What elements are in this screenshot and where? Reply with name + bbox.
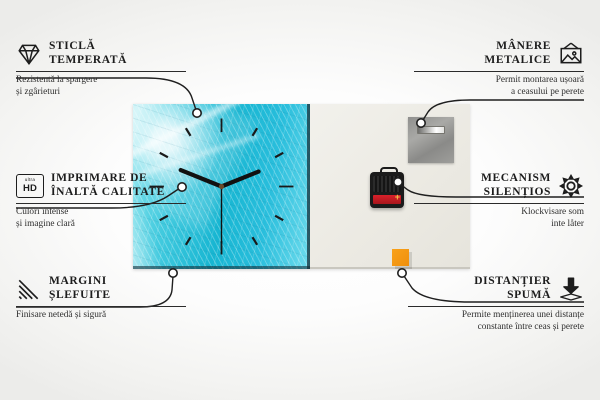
callout-header: MECANISM SILENȚIOS (414, 172, 584, 199)
callout-rule (414, 71, 584, 72)
connector-metal-handles (423, 100, 584, 120)
subtitle-line: și zgârieturi (16, 87, 186, 99)
gear-icon (558, 173, 584, 199)
subtitle-line: inte låter (414, 219, 584, 231)
callout-rule (16, 306, 186, 307)
title-line: ÎNALTĂ CALITATE (51, 186, 165, 200)
title-line: IMPRIMARE DE (51, 172, 165, 186)
callout-polished-edges[interactable]: MARGINI ȘLEFUITE Finisare netedă și sigu… (16, 275, 186, 322)
callout-header: DISTANȚIER SPUMĂ (408, 275, 584, 302)
title-line: METALICE (484, 54, 551, 68)
picture-frame-hanger-icon (558, 41, 584, 67)
callout-title: MECANISM SILENȚIOS (481, 172, 551, 199)
title-line: SILENȚIOS (481, 186, 551, 200)
ultra-hd-icon: ultra HD (16, 174, 44, 198)
callout-header: MARGINI ȘLEFUITE (16, 275, 186, 302)
diagonal-lines-icon (16, 276, 42, 302)
callout-title: DISTANȚIER SPUMĂ (474, 275, 551, 302)
callout-subtitle: Culori intense și imagine clară (16, 207, 186, 230)
callout-rule (408, 306, 584, 307)
callout-foam-spacer[interactable]: DISTANȚIER SPUMĂ Permite menținerea unei… (408, 275, 584, 333)
subtitle-line: Permite menținerea unei distanțe (408, 310, 584, 322)
callout-header: MÂNERE METALICE (414, 40, 584, 67)
title-line: MARGINI (49, 275, 111, 289)
subtitle-line: și imagine clară (16, 219, 186, 231)
ultra-hd-icon-top-text: ultra (25, 178, 35, 183)
callout-tempered-glass[interactable]: STICLĂ TEMPERATĂ Rezistentă la spargere … (16, 40, 186, 98)
callout-subtitle: Permite menținerea unei distanțe constan… (408, 310, 584, 333)
callout-rule (16, 203, 186, 204)
endpoint-dot-foam-spacer (398, 269, 406, 277)
callout-header: ultra HD IMPRIMARE DE ÎNALTĂ CALITATE (16, 172, 186, 199)
endpoint-dot-metal-handles (417, 119, 425, 127)
ultra-hd-icon-main-text: HD (23, 184, 37, 194)
subtitle-line: constante între ceas și perete (408, 322, 584, 334)
subtitle-line: Finisare netedă și sigură (16, 310, 186, 322)
callout-subtitle: Permit montarea ușoară a ceasului pe per… (414, 75, 584, 98)
down-arrow-onto-surface-icon (558, 276, 584, 302)
callout-header: STICLĂ TEMPERATĂ (16, 40, 186, 67)
endpoint-dot-tempered-glass (193, 109, 201, 117)
title-line: STICLĂ (49, 40, 127, 54)
callout-title: IMPRIMARE DE ÎNALTĂ CALITATE (51, 172, 165, 199)
title-line: SPUMĂ (474, 289, 551, 303)
title-line: MÂNERE (484, 40, 551, 54)
infographic-canvas: STICLĂ TEMPERATĂ Rezistentă la spargere … (0, 0, 600, 400)
diamond-icon (16, 41, 42, 67)
title-line: ȘLEFUITE (49, 289, 111, 303)
callout-rule (414, 203, 584, 204)
callout-subtitle: Klockvisare som inte låter (414, 207, 584, 230)
title-line: DISTANȚIER (474, 275, 551, 289)
subtitle-line: Permit montarea ușoară (414, 75, 584, 87)
callout-subtitle: Rezistentă la spargere și zgârieturi (16, 75, 186, 98)
callout-title: MARGINI ȘLEFUITE (49, 275, 111, 302)
subtitle-line: Klockvisare som (414, 207, 584, 219)
callout-silent-mechanism[interactable]: MECANISM SILENȚIOS Klockvisare som inte … (414, 172, 584, 230)
callout-high-quality-print[interactable]: ultra HD IMPRIMARE DE ÎNALTĂ CALITATE Cu… (16, 172, 186, 230)
callout-subtitle: Finisare netedă și sigură (16, 310, 186, 322)
subtitle-line: Rezistentă la spargere (16, 75, 186, 87)
title-line: MECANISM (481, 172, 551, 186)
endpoint-dot-silent-mechanism (394, 178, 402, 186)
callout-title: MÂNERE METALICE (484, 40, 551, 67)
subtitle-line: a ceasului pe perete (414, 87, 584, 99)
callout-title: STICLĂ TEMPERATĂ (49, 40, 127, 67)
callout-rule (16, 71, 186, 72)
callout-metal-handles[interactable]: MÂNERE METALICE Permit montarea ușoară a… (414, 40, 584, 98)
title-line: TEMPERATĂ (49, 54, 127, 68)
subtitle-line: Culori intense (16, 207, 186, 219)
